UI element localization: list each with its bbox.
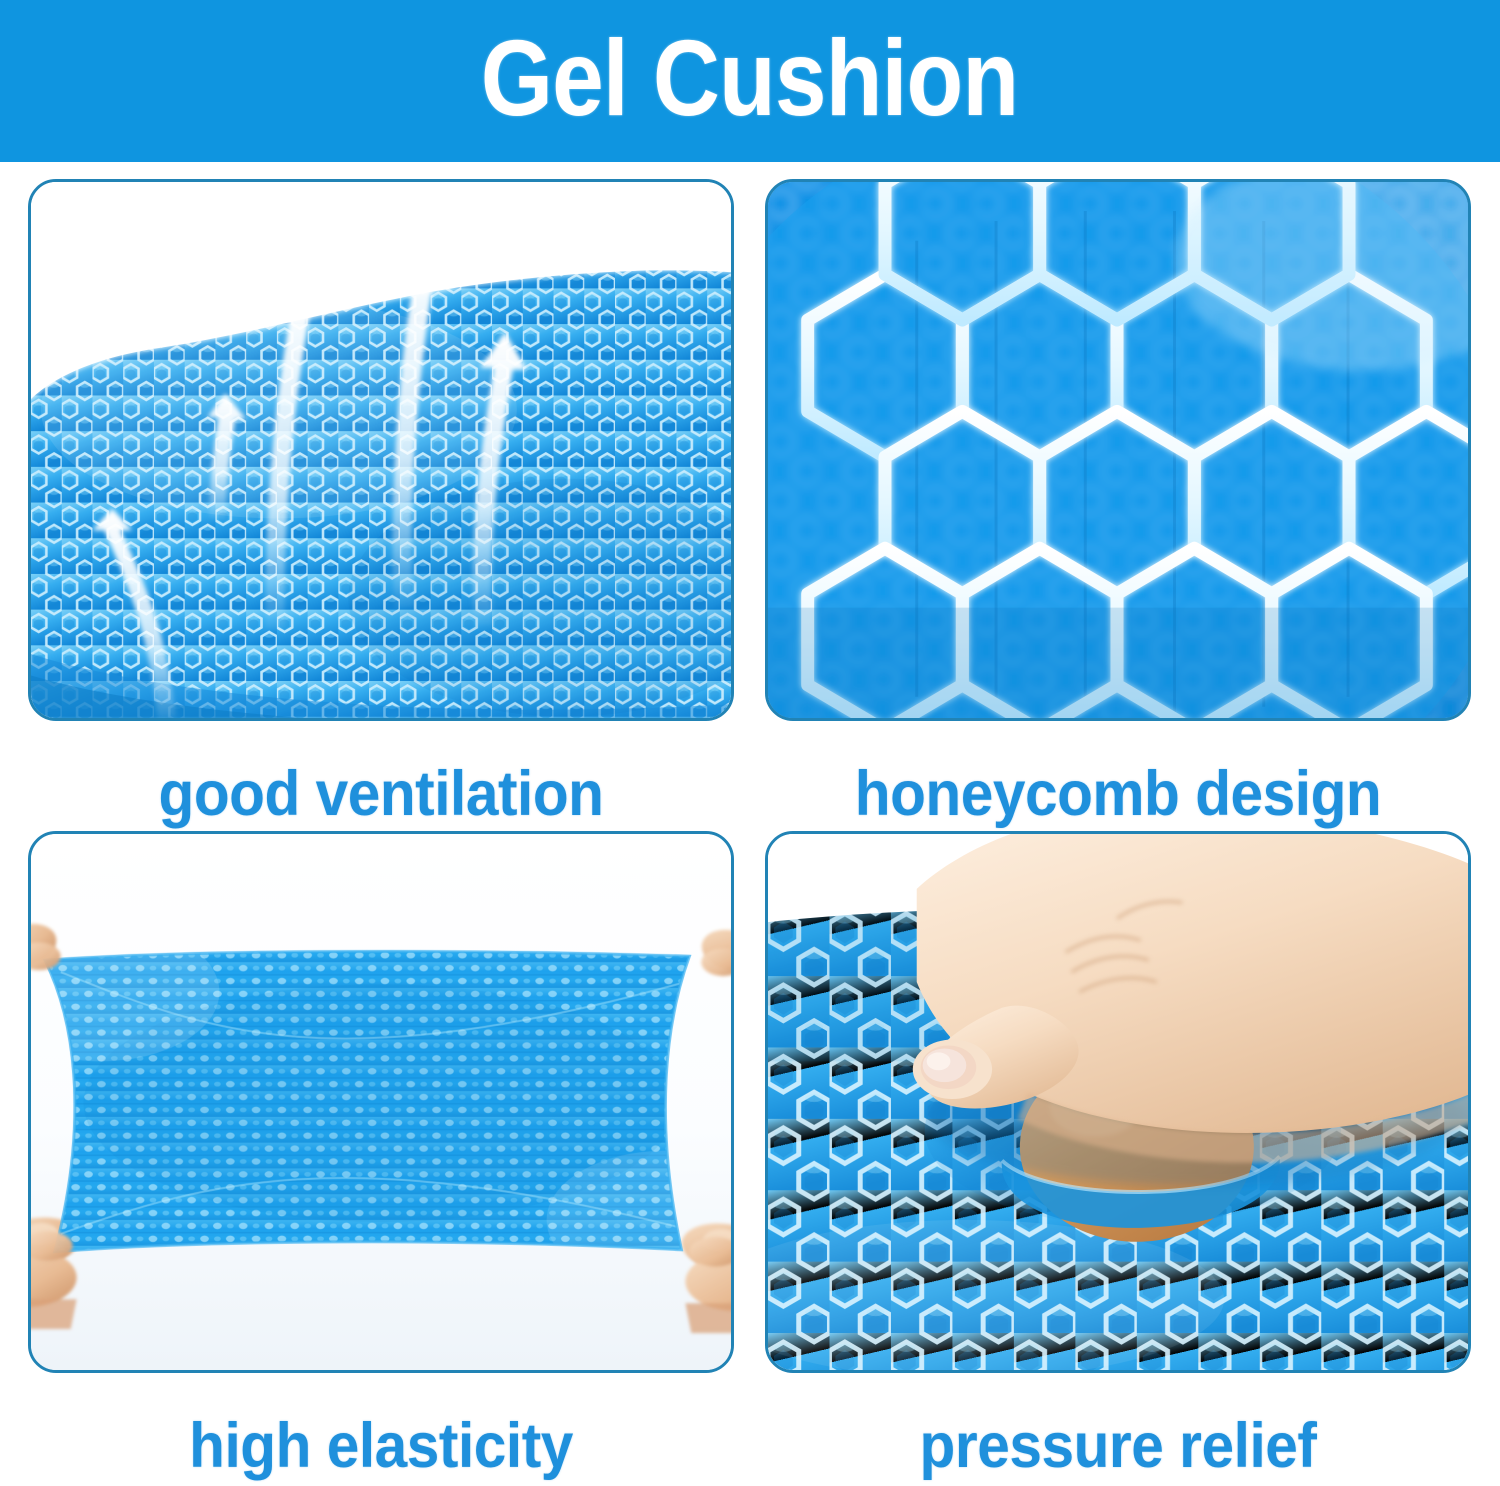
honeycomb-illustration: [768, 182, 1468, 718]
elasticity-illustration: [31, 834, 731, 1370]
header-banner: Gel Cushion: [0, 0, 1500, 162]
feature-cell-elasticity: high elasticity: [28, 831, 740, 1481]
fingernail: [913, 1040, 992, 1099]
feature-grid: good ventilation: [0, 162, 1500, 1486]
page-title: Gel Cushion: [481, 24, 1019, 132]
feature-caption-ventilation: good ventilation: [53, 763, 710, 826]
feature-caption-pressure: pressure relief: [790, 1415, 1447, 1478]
feature-cell-pressure: pressure relief: [765, 831, 1477, 1481]
feature-caption-elasticity: high elasticity: [53, 1415, 710, 1478]
stretched-gel-mat: [31, 923, 731, 1290]
panel-pressure-image: [765, 831, 1471, 1373]
feature-cell-honeycomb: honeycomb design: [765, 179, 1477, 829]
pressure-relief-illustration: [768, 834, 1468, 1370]
panel-elasticity-image: [28, 831, 734, 1373]
ventilation-illustration: [31, 182, 731, 718]
pressing-hand: [913, 834, 1468, 1186]
feature-cell-ventilation: good ventilation: [28, 179, 740, 829]
feature-caption-honeycomb: honeycomb design: [790, 763, 1447, 826]
panel-honeycomb-image: [765, 179, 1471, 721]
panel-ventilation-image: [28, 179, 734, 721]
